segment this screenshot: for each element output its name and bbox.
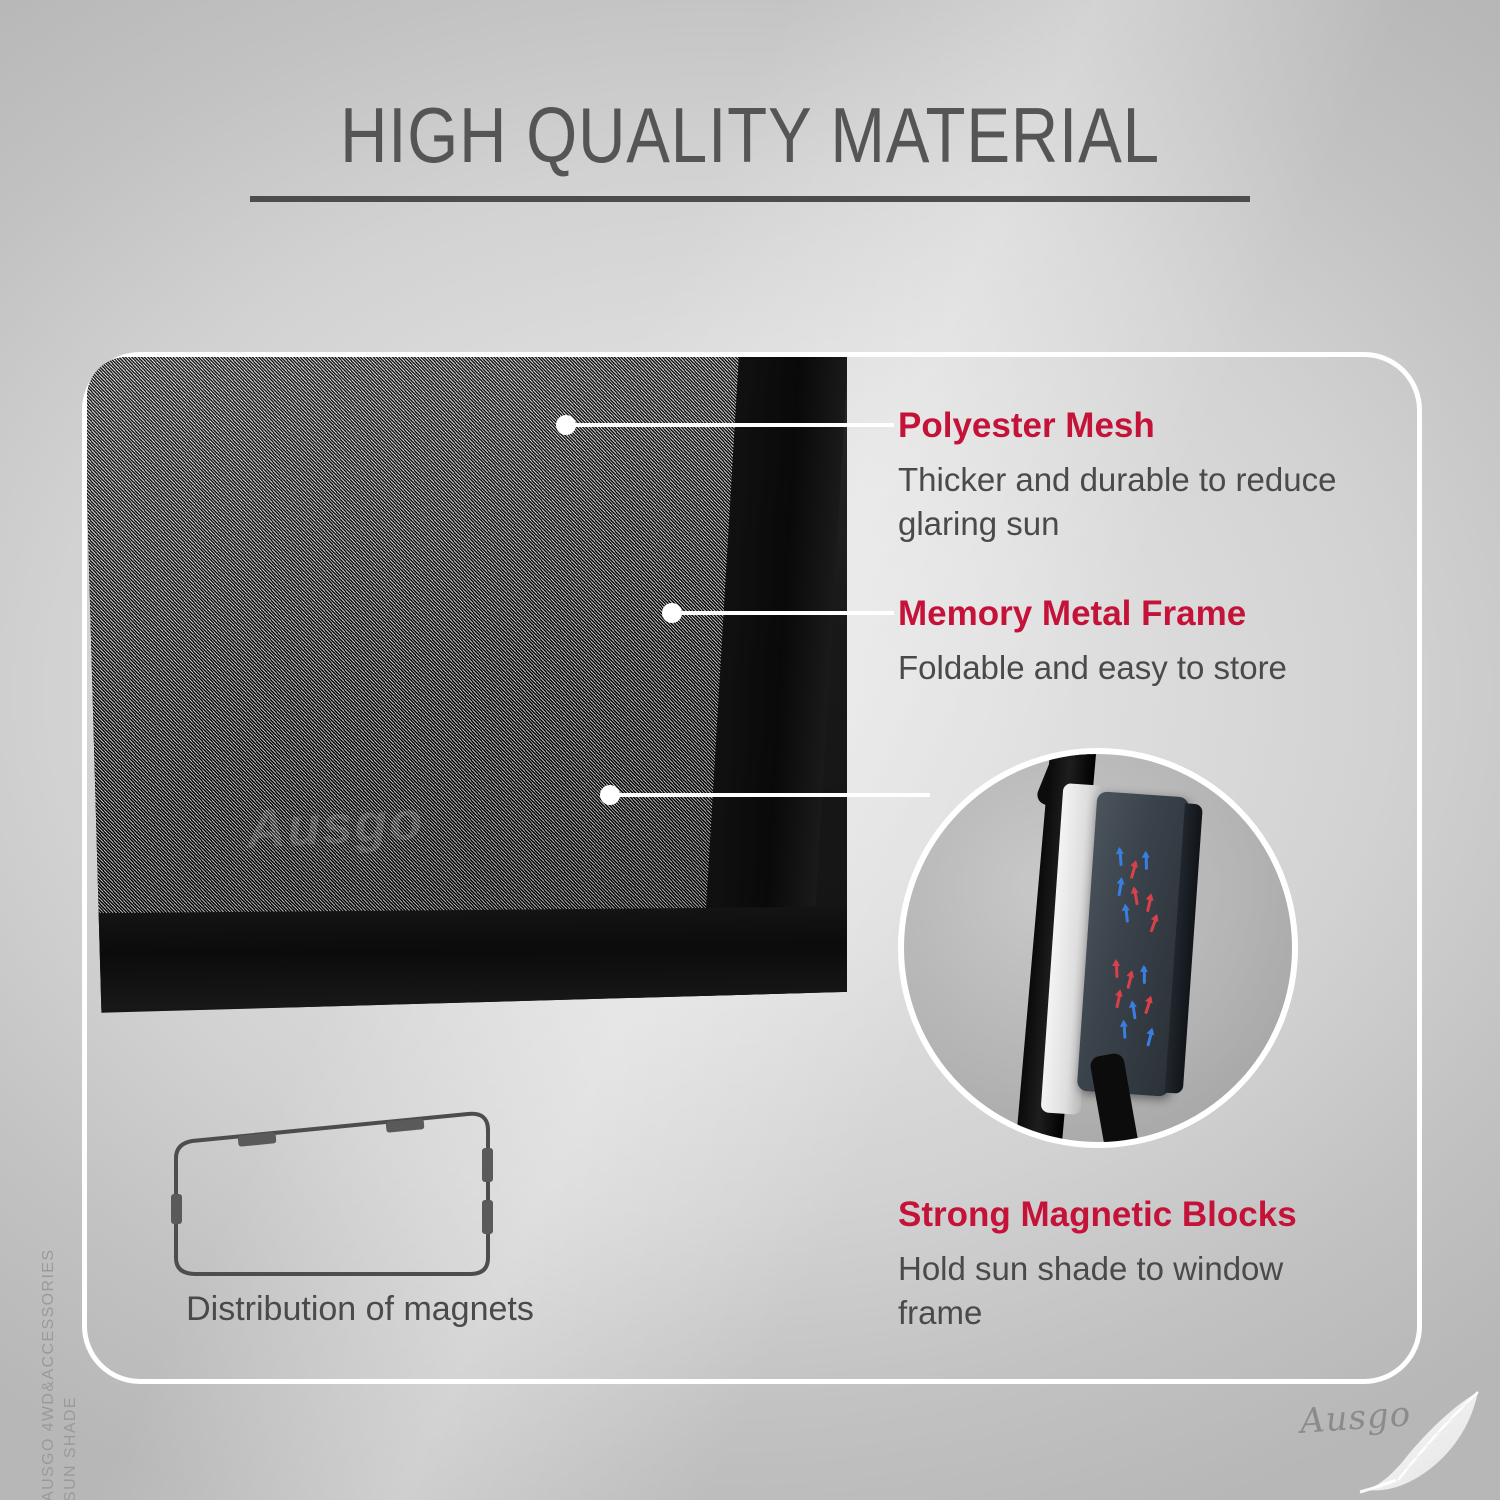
magnet-diagram-caption: Distribution of magnets	[120, 1290, 600, 1329]
page-title: HIGH QUALITY MATERIAL	[120, 96, 1380, 174]
field-arrow-red	[1126, 972, 1133, 989]
field-arrow-blue	[1145, 853, 1148, 870]
field-arrow-red	[1150, 915, 1159, 932]
field-arrow-red	[1133, 888, 1139, 905]
callout-line-magnetic-blocks	[616, 793, 930, 797]
magnetic-block	[1077, 791, 1190, 1097]
shade-outline	[176, 1114, 488, 1274]
magnet-block-right-lower	[482, 1200, 493, 1234]
field-arrow-blue	[1143, 967, 1146, 984]
field-arrow-blue	[1118, 849, 1122, 866]
feature-polyester-mesh: Polyester Mesh Thicker and durable to re…	[898, 406, 1418, 546]
callout-line-polyester-mesh	[572, 423, 894, 427]
feather-icon	[1352, 1388, 1492, 1500]
feature-body-strong-magnetic-blocks: Hold sun shade to window frame	[898, 1247, 1368, 1335]
feature-heading-memory-metal-frame: Memory Metal Frame	[898, 594, 1418, 634]
feature-heading-strong-magnetic-blocks: Strong Magnetic Blocks	[898, 1195, 1368, 1235]
magnet-closeup-inset	[898, 748, 1298, 1148]
infographic-canvas: HIGH QUALITY MATERIAL Ausgo Polyester Me…	[0, 0, 1500, 1500]
product-photo-sunshade: Ausgo	[87, 357, 847, 1057]
sidebar-vertical-label: AUSGO 4WD&ACCESSORIES SUN SHADE	[38, 1202, 82, 1500]
magnet-block-right-upper	[482, 1148, 493, 1182]
feature-body-memory-metal-frame: Foldable and easy to store	[898, 646, 1418, 690]
field-arrow-red	[1146, 895, 1153, 912]
feature-heading-polyester-mesh: Polyester Mesh	[898, 406, 1418, 446]
sidebar-line-brand: AUSGO 4WD&ACCESSORIES	[38, 1202, 60, 1500]
field-arrow-red	[1130, 862, 1138, 879]
callout-line-memory-metal-frame	[678, 611, 894, 615]
magnet-distribution-svg	[168, 1108, 538, 1288]
feature-strong-magnetic-blocks: Strong Magnetic Blocks Hold sun shade to…	[898, 1195, 1368, 1335]
field-arrow-blue	[1131, 1002, 1136, 1019]
sidebar-line-product: SUN SHADE	[60, 1202, 82, 1500]
magnet-block-left	[171, 1194, 182, 1224]
field-arrow-red	[1144, 997, 1152, 1014]
feature-body-polyester-mesh: Thicker and durable to reduce glaring su…	[898, 458, 1418, 546]
field-arrow-red	[1115, 991, 1121, 1008]
feature-memory-metal-frame: Memory Metal Frame Foldable and easy to …	[898, 594, 1418, 690]
field-arrow-blue	[1146, 1029, 1153, 1046]
field-arrow-blue	[1123, 1022, 1127, 1039]
magnet-distribution-diagram	[168, 1108, 538, 1288]
title-underline	[250, 196, 1250, 202]
field-arrow-blue	[1117, 879, 1123, 896]
sunshade-panel: Ausgo	[87, 357, 847, 1013]
black-binding-bottom-edge	[87, 906, 847, 1010]
field-arrow-red	[1115, 961, 1119, 978]
field-arrow-blue	[1124, 905, 1129, 922]
